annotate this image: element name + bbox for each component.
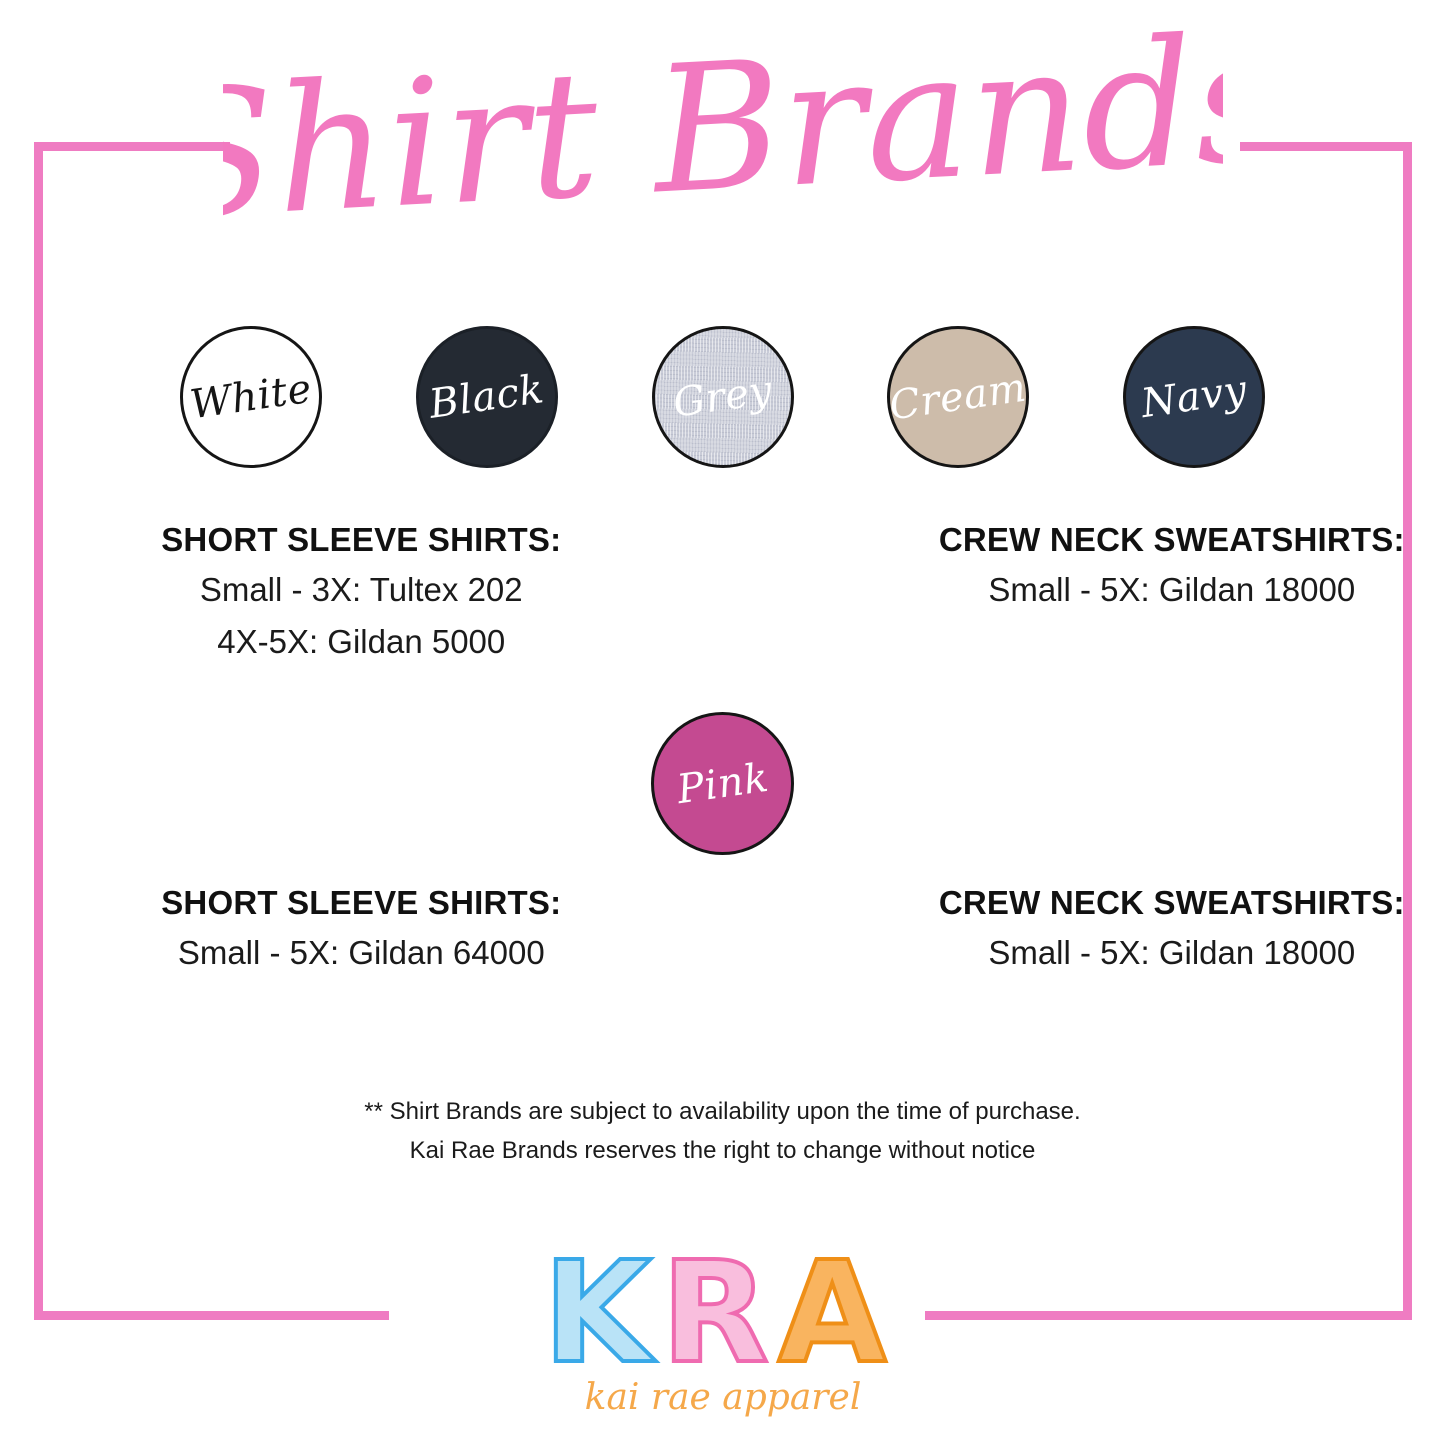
brand-logo: K R A kai rae apparel xyxy=(0,1243,1445,1427)
swatch-white-label: White xyxy=(187,365,314,428)
color-swatch-row-pink: Pink xyxy=(0,712,1445,855)
swatch-cream[interactable]: Cream xyxy=(887,326,1029,468)
swatch-white[interactable]: White xyxy=(180,326,322,468)
color-swatch-row-primary: White Black Grey Cream Navy xyxy=(180,324,1265,469)
product-column-short-sleeve-top: SHORT SLEEVE SHIRTS: Small - 3X: Tultex … xyxy=(0,521,773,669)
logo-letters-kra: K R A xyxy=(523,1243,923,1383)
heading-crew-neck-sweatshirts-top: CREW NECK SWEATSHIRTS: xyxy=(811,521,1445,559)
swatch-black-label: Black xyxy=(427,366,547,428)
heading-short-sleeve-shirts-bottom: SHORT SLEEVE SHIRTS: xyxy=(0,884,723,922)
logo-letter-a: A xyxy=(778,1243,886,1383)
disclaimer: ** Shirt Brands are subject to availabil… xyxy=(0,1093,1445,1171)
product-block-short-sleeve-and-crew-top: SHORT SLEEVE SHIRTS: Small - 3X: Tultex … xyxy=(0,521,1445,669)
swatch-navy[interactable]: Navy xyxy=(1123,326,1265,468)
frame-top-right-edge xyxy=(1240,142,1412,151)
swatch-navy-label: Navy xyxy=(1138,366,1249,426)
title-text: Shirt Brands xyxy=(223,13,1223,253)
product-column-crew-neck-top: CREW NECK SWEATSHIRTS: Small - 5X: Gilda… xyxy=(773,521,1445,669)
disclaimer-line-1: ** Shirt Brands are subject to availabil… xyxy=(0,1093,1445,1132)
detail-short-sleeve-top-line-1: Small - 3X: Tultex 202 xyxy=(0,566,723,615)
swatch-pink[interactable]: Pink xyxy=(651,712,794,855)
disclaimer-line-2: Kai Rae Brands reserves the right to cha… xyxy=(0,1132,1445,1171)
frame-top-left-edge xyxy=(34,142,230,151)
swatch-grey-label: Grey xyxy=(670,367,775,426)
swatch-black[interactable]: Black xyxy=(416,326,558,468)
product-block-short-sleeve-and-crew-bottom: SHORT SLEEVE SHIRTS: Small - 5X: Gildan … xyxy=(0,884,1445,981)
poster-canvas: Shirt Brands White Black Grey Cream Navy… xyxy=(0,0,1445,1445)
swatch-cream-label: Cream xyxy=(887,364,1029,429)
detail-crew-neck-top-line-1: Small - 5X: Gildan 18000 xyxy=(811,566,1445,615)
heading-short-sleeve-shirts-top: SHORT SLEEVE SHIRTS: xyxy=(0,521,723,559)
logo-tagline-text: kai rae apparel xyxy=(584,1377,861,1418)
heading-crew-neck-sweatshirts-bottom: CREW NECK SWEATSHIRTS: xyxy=(811,884,1445,922)
product-column-short-sleeve-bottom: SHORT SLEEVE SHIRTS: Small - 5X: Gildan … xyxy=(0,884,773,981)
logo-letter-k: K xyxy=(543,1243,656,1383)
logo-letter-r: R xyxy=(661,1243,769,1383)
product-column-crew-neck-bottom: CREW NECK SWEATSHIRTS: Small - 5X: Gilda… xyxy=(773,884,1445,981)
detail-short-sleeve-bottom-line-1: Small - 5X: Gildan 64000 xyxy=(0,929,723,978)
page-title: Shirt Brands xyxy=(0,8,1445,258)
detail-crew-neck-bottom-line-1: Small - 5X: Gildan 18000 xyxy=(811,929,1445,978)
detail-short-sleeve-top-line-2: 4X-5X: Gildan 5000 xyxy=(0,618,723,667)
swatch-pink-label: Pink xyxy=(674,754,771,812)
title-script-art: Shirt Brands xyxy=(223,13,1223,253)
swatch-grey[interactable]: Grey xyxy=(652,326,794,468)
logo-tagline: kai rae apparel xyxy=(543,1367,903,1427)
